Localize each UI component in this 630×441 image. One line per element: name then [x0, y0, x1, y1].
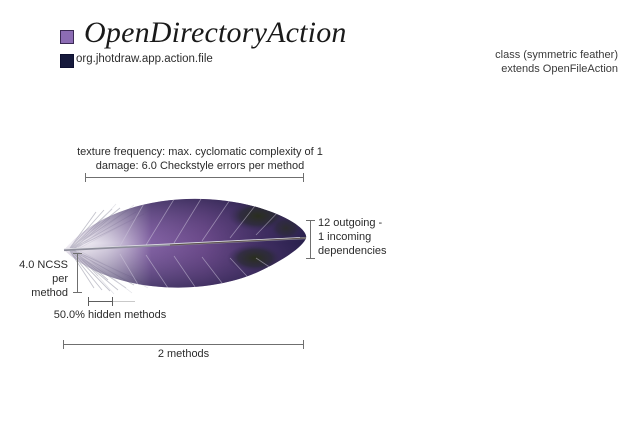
- measure-cap-right: [112, 297, 113, 306]
- methods-label: 2 methods: [63, 347, 304, 361]
- measure-line-measured: [88, 301, 112, 302]
- measure-cap-top: [306, 220, 315, 221]
- class-kind-label: class (symmetric feather): [495, 48, 618, 62]
- dependencies-measure-bar: [306, 220, 315, 259]
- measure-line: [85, 177, 304, 178]
- measure-cap-left: [85, 173, 86, 182]
- incoming-dependencies-line: 1 incoming: [318, 230, 408, 244]
- texture-frequency-label: texture frequency: max. cyclomatic compl…: [60, 145, 340, 173]
- measure-cap-right: [303, 173, 304, 182]
- measure-cap-bottom: [73, 292, 82, 293]
- feather-figure: [50, 188, 320, 308]
- ncss-line-1: 4.0 NCSS per: [2, 258, 68, 286]
- texture-frequency-line: texture frequency: max. cyclomatic compl…: [60, 145, 340, 159]
- measure-line: [310, 220, 311, 259]
- measure-line: [63, 344, 304, 345]
- dependencies-label: 12 outgoing - 1 incoming dependencies: [318, 216, 408, 258]
- damage-line: damage: 6.0 Checkstyle errors per method: [60, 159, 340, 173]
- measure-line: [77, 253, 78, 293]
- ncss-line-2: method: [2, 286, 68, 300]
- outgoing-dependencies-line: 12 outgoing -: [318, 216, 408, 230]
- texture-frequency-measure-bar: [85, 173, 304, 182]
- measure-cap-left: [88, 297, 89, 306]
- ncss-measure-bar: [73, 253, 82, 293]
- hidden-methods-measure-bar: [88, 297, 135, 306]
- page-title: OpenDirectoryAction: [84, 16, 347, 50]
- measure-cap-top: [73, 253, 82, 254]
- measure-cap-bottom: [306, 258, 315, 259]
- class-meta: class (symmetric feather) extends OpenFi…: [495, 48, 618, 76]
- package-label: org.jhotdraw.app.action.file: [76, 53, 213, 65]
- visualization-canvas: OpenDirectoryAction org.jhotdraw.app.act…: [0, 0, 630, 441]
- package-color-swatch: [60, 54, 74, 68]
- class-extends-label: extends OpenFileAction: [495, 62, 618, 76]
- dependencies-word: dependencies: [318, 244, 408, 258]
- ncss-label: 4.0 NCSS per method: [2, 258, 68, 300]
- class-color-swatch: [60, 30, 74, 44]
- hidden-methods-label: 50.0% hidden methods: [30, 308, 190, 322]
